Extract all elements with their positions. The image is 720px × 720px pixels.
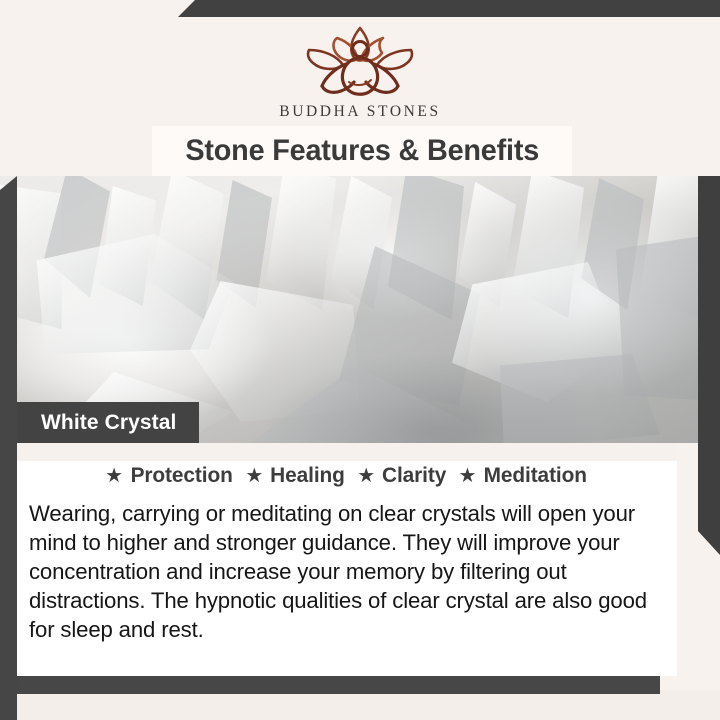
frame-base-strip [0,690,720,720]
page-title: Stone Features & Benefits [185,134,539,168]
star-icon: ★ [357,466,375,486]
benefit-item-clarity: ★ Clarity [357,463,447,488]
benefits-row: ★ Protection ★ Healing ★ Clarity ★ Medit… [17,463,677,488]
brand-logo: BUDDHA STONES [0,22,720,121]
frame-edge-left [0,176,17,720]
star-icon: ★ [105,466,123,486]
stone-name-label: White Crystal [41,411,177,435]
benefit-item-healing: ★ Healing [245,463,346,488]
stone-features-infographic: BUDDHA STONES Stone Features & Benefits … [0,0,720,720]
description-text: Wearing, carrying or meditating on clear… [29,499,665,644]
lotus-meditation-figure-icon [285,22,435,100]
star-icon: ★ [458,466,476,486]
content-panel: ★ Protection ★ Healing ★ Clarity ★ Medit… [17,443,677,676]
panel-top-tint [17,443,677,461]
benefit-item-meditation: ★ Meditation [458,463,588,488]
page-title-banner: Stone Features & Benefits [152,126,572,176]
benefit-item-protection: ★ Protection [105,463,234,488]
frame-edge-bottom [0,676,660,694]
star-icon: ★ [245,466,263,486]
benefit-label: Healing [270,463,345,488]
brand-name: BUDDHA STONES [0,103,720,121]
stone-name-badge: White Crystal [17,402,199,443]
benefit-label: Protection [131,463,233,488]
benefit-label: Meditation [484,463,587,488]
benefit-label: Clarity [382,463,446,488]
